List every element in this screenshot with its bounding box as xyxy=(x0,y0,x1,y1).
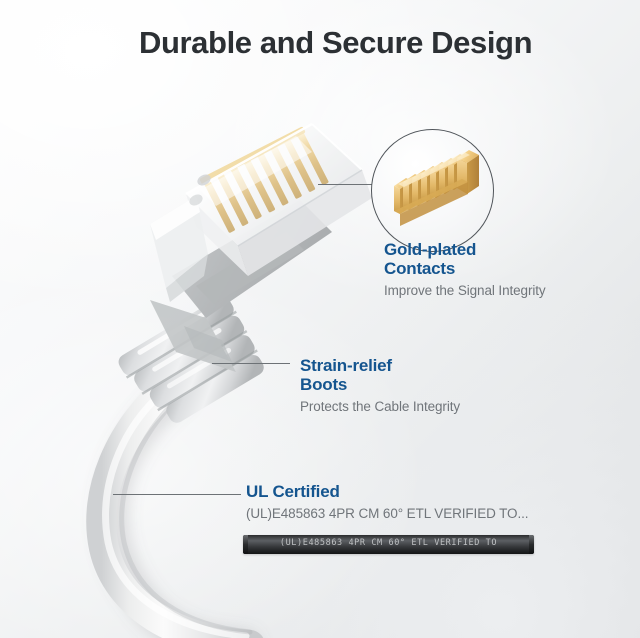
gold-pins-illustration xyxy=(372,130,493,251)
product-feature-graphic: Durable and Secure Design xyxy=(0,0,640,638)
callout-subtitle-gold-plated-contacts: Improve the Signal Integrity xyxy=(384,282,546,299)
page-title: Durable and Secure Design xyxy=(139,25,532,61)
callout-ul-certified: UL Certified (UL)E485863 4PR CM 60° ETL … xyxy=(246,482,528,522)
ul-cable-print-sample: (UL)E485863 4PR CM 60° ETL VERIFIED TO xyxy=(243,535,534,554)
callout-strain-relief-boots: Strain-relief Boots Protects the Cable I… xyxy=(300,356,460,415)
callout-gold-plated-contacts: Gold-plated Contacts Improve the Signal … xyxy=(384,240,546,299)
callout-subtitle-ul-certified: (UL)E485863 4PR CM 60° ETL VERIFIED TO..… xyxy=(246,505,528,522)
callout-title-strain-relief-boots: Strain-relief Boots xyxy=(300,356,460,394)
leader-line-strain-relief-boots xyxy=(212,363,290,364)
gold-contact-blades xyxy=(394,150,479,226)
ul-cable-print-text: (UL)E485863 4PR CM 60° ETL VERIFIED TO xyxy=(243,538,534,548)
gold-contacts-magnifier xyxy=(371,129,494,252)
leader-line-gold-plated-contacts xyxy=(318,184,374,185)
callout-subtitle-strain-relief-boots: Protects the Cable Integrity xyxy=(300,398,460,415)
leader-line-ul-certified xyxy=(113,494,241,495)
callout-title-gold-plated-contacts: Gold-plated Contacts xyxy=(384,240,546,278)
callout-title-ul-certified: UL Certified xyxy=(246,482,528,501)
